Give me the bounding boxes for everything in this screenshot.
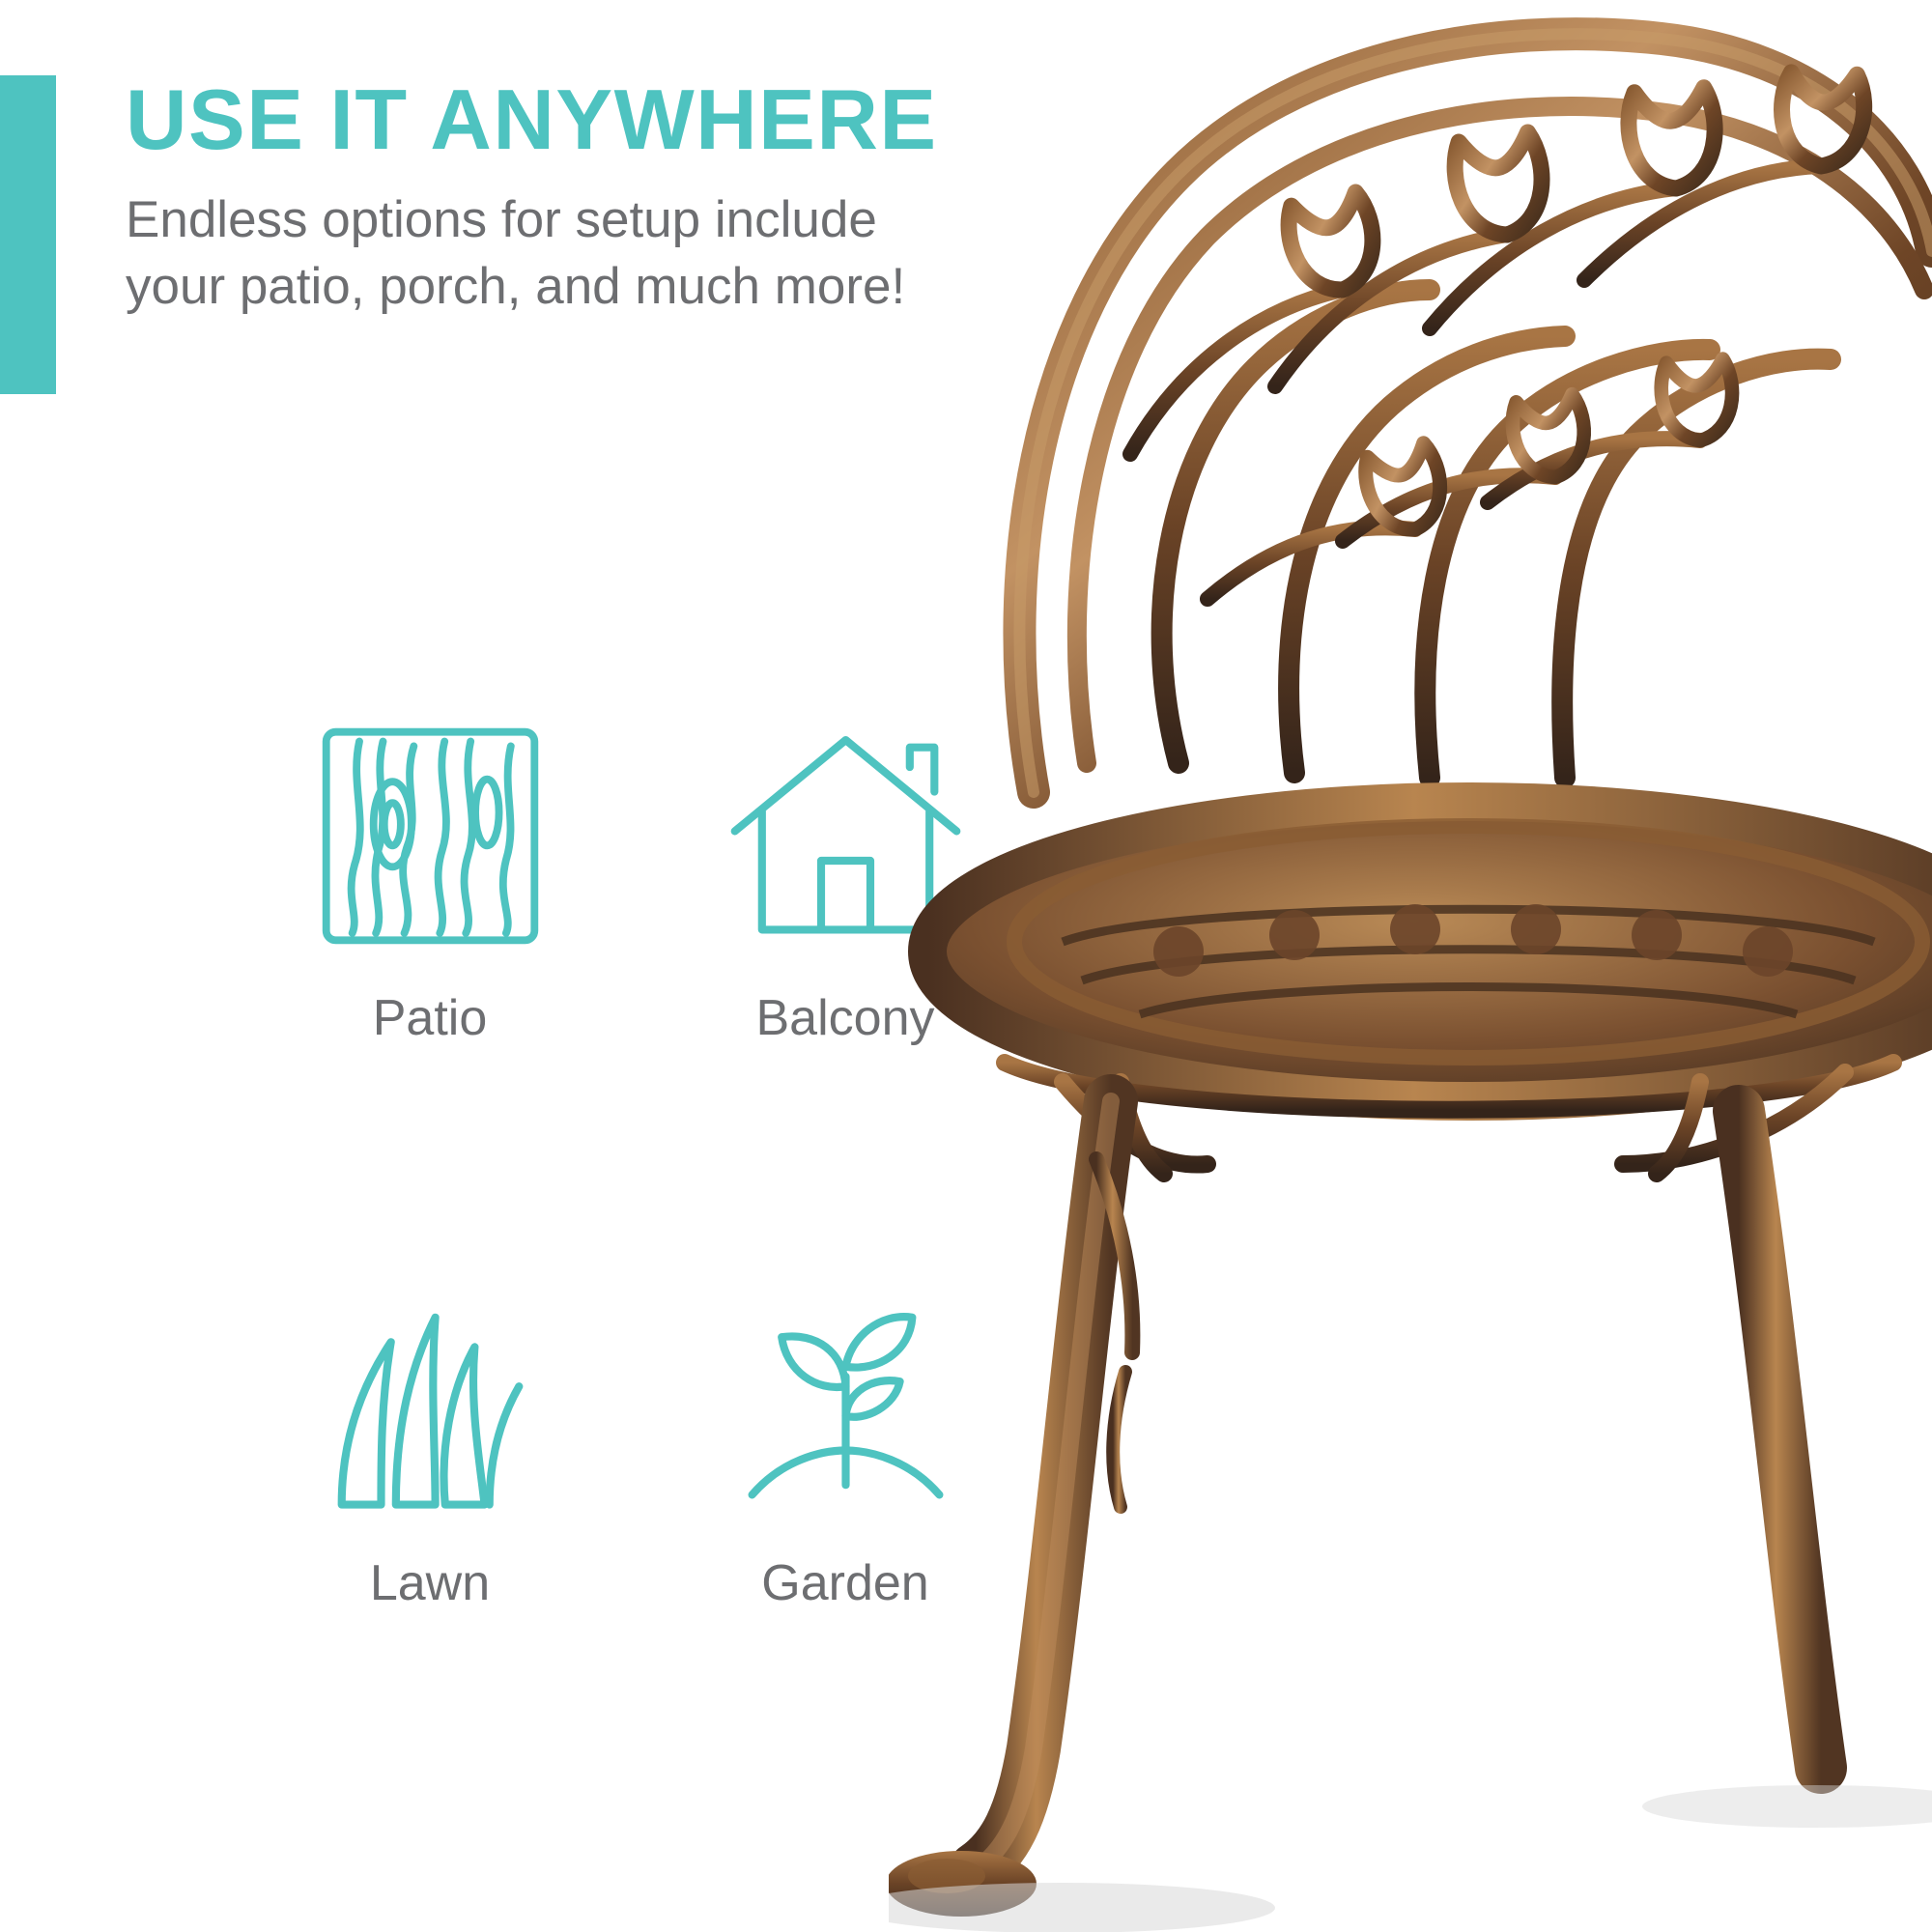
product-image [889,0,1932,1932]
feature-label: Patio [373,993,488,1043]
feature-item-lawn: Lawn [222,1270,638,1608]
feature-label: Lawn [370,1558,490,1608]
feature-item-patio: Patio [222,705,638,1043]
wood-plank-icon [312,705,549,966]
grass-icon [307,1270,554,1531]
accent-bar [0,75,56,394]
page-subtitle: Endless options for setup include your p… [126,187,918,321]
